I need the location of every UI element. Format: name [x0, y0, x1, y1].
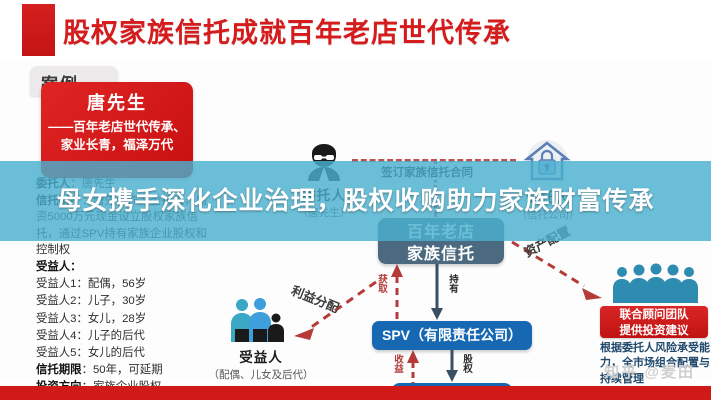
term-value: ：50年，可延期	[82, 364, 163, 376]
equity-arrow-label: 股权	[459, 354, 473, 373]
advisory-banner-line2: 提供投资建议	[600, 324, 708, 340]
beneficiary-item: 受益人2：儿子，30岁	[36, 293, 208, 309]
beneficiary-item: 受益人5：女儿的后代	[36, 345, 208, 361]
beneficiary-item: 受益人1：配偶，56岁	[36, 276, 208, 292]
case-name: 唐先生	[41, 89, 193, 115]
term-label: 信托期限	[36, 364, 82, 376]
beneficiary-paren: （配偶、儿女及后代）	[200, 367, 322, 382]
hold-arrow-label: 持有	[445, 274, 459, 293]
header-accent-bar	[22, 4, 55, 56]
case-subtitle: ——百年老店世代传承、家业长青，福泽万代	[41, 118, 193, 154]
spv-box: SPV（有限责任公司）	[372, 321, 532, 350]
hold-arrow	[430, 264, 444, 322]
income-arrow	[406, 350, 420, 384]
equity-arrow	[445, 350, 459, 384]
overlay-caption-text: 母女携手深化企业治理，股权收购助力家族财富传承	[30, 186, 680, 217]
footer-bar	[0, 386, 711, 400]
beneficiary-node-label: 受益人 （配偶、儿女及后代）	[200, 346, 322, 382]
income-arrow-label: 收益	[390, 354, 404, 373]
team-icon	[612, 263, 698, 303]
infographic-image: 股权家族信托成就百年老店世代传承 案例 唐先生 ——百年老店世代传承、家业长青，…	[0, 0, 711, 400]
beneficiary-name: 受益人	[200, 346, 322, 366]
beneficiary-item: 受益人4：儿子的后代	[36, 328, 208, 344]
acquire-arrow	[390, 264, 404, 322]
beneficiary-item: 受益人3：女儿，28岁	[36, 311, 208, 327]
overlay-caption-band: 母女携手深化企业治理，股权收购助力家族财富传承	[0, 161, 711, 241]
trust-box-line2: 家族信托	[378, 244, 504, 266]
family-group-icon	[228, 298, 290, 342]
beneficiary-heading: 受益人：	[36, 259, 208, 275]
watermark: 知乎 @麦田	[604, 361, 695, 382]
advisory-banner: 联合顾问团队 提供投资建议	[600, 306, 708, 338]
header: 股权家族信托成就百年老店世代传承	[0, 0, 711, 60]
term-line: 信托期限：50年，可延期	[36, 362, 208, 378]
advisory-banner-line1: 联合顾问团队	[600, 308, 708, 324]
page-title: 股权家族信托成就百年老店世代传承	[63, 11, 511, 50]
